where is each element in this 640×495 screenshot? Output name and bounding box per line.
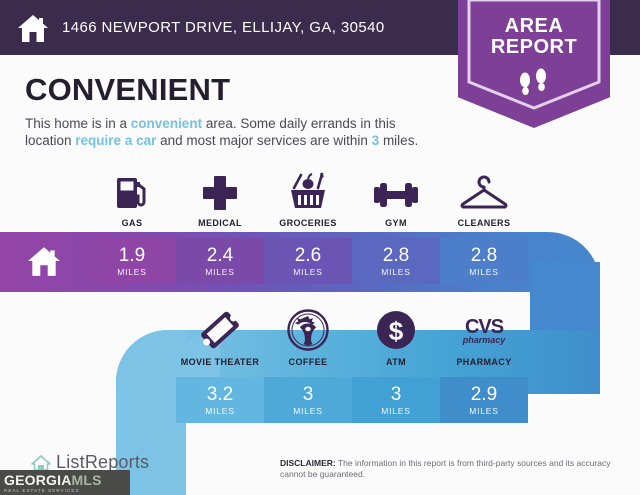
service-gym: GYM (352, 168, 440, 228)
distance-unit: MILES (381, 406, 411, 416)
distance-value: 2.8 (383, 245, 409, 266)
desc-highlight-2: require a car (75, 133, 156, 148)
distance-coffee: 3 MILES (264, 377, 352, 423)
service-label: ATM (386, 357, 406, 367)
distance-value: 2.4 (207, 245, 233, 266)
service-gas: GAS (88, 168, 176, 228)
distance-value: 2.8 (471, 245, 497, 266)
service-cleaners: CLEANERS (440, 168, 528, 228)
desc-part-3: and most major services are within (156, 133, 371, 148)
home-icon (16, 11, 50, 45)
movie-ticket-icon (198, 307, 242, 351)
distance-pharmacy: 2.9 MILES (440, 377, 528, 423)
gas-pump-icon (112, 168, 152, 212)
disclaimer: DISCLAIMER: The information in this repo… (280, 458, 620, 480)
service-label: CLEANERS (458, 218, 511, 228)
mls-primary: GEORGIA (4, 472, 72, 488)
ribbon-title: AREA REPORT (458, 16, 610, 58)
ribbon-line-2: REPORT (458, 37, 610, 58)
svg-text:$: $ (389, 316, 404, 346)
distance-unit: MILES (205, 267, 235, 277)
distance-unit: MILES (205, 406, 235, 416)
distance-unit: MILES (469, 267, 499, 277)
distance-gym: 2.8 MILES (352, 238, 440, 284)
hanger-icon (459, 168, 509, 212)
disclaimer-label: DISCLAIMER: (280, 458, 336, 468)
service-label: GYM (385, 218, 407, 228)
distance-unit: MILES (469, 406, 499, 416)
distance-groceries: 2.6 MILES (264, 238, 352, 284)
distance-unit: MILES (293, 267, 323, 277)
mls-tagline: REAL ESTATE SERVICES (4, 488, 130, 493)
service-atm: $ ATM (352, 307, 440, 367)
service-medical: MEDICAL (176, 168, 264, 228)
distance-value: 2.6 (295, 245, 321, 266)
distance-medical: 2.4 MILES (176, 238, 264, 284)
distance-value: 1.9 (119, 245, 145, 266)
grocery-basket-icon (286, 168, 330, 212)
services-row-2: MOVIE THEATER COFFEE $ ATM (176, 307, 528, 367)
starbucks-icon (287, 307, 329, 351)
service-coffee: COFFEE (264, 307, 352, 367)
service-label: COFFEE (289, 357, 328, 367)
distance-movie-theater: 3.2 MILES (176, 377, 264, 423)
service-label: MOVIE THEATER (181, 357, 260, 367)
brand-bold: Reports (85, 452, 149, 472)
desc-part-4: miles. (379, 133, 418, 148)
distance-value: 3.2 (207, 384, 233, 405)
distance-atm: 3 MILES (352, 377, 440, 423)
dollar-circle-icon: $ (375, 307, 417, 351)
distance-unit: MILES (293, 406, 323, 416)
distance-value: 3 (303, 384, 314, 405)
georgia-mls-logo: GEORGIAMLS REAL ESTATE SERVICES (0, 470, 130, 495)
dumbbell-icon (372, 168, 420, 212)
distance-value: 2.9 (471, 384, 497, 405)
description-text: This home is in a convenient area. Some … (25, 115, 445, 149)
home-marker-icon (22, 243, 66, 279)
distance-gas: 1.9 MILES (88, 238, 176, 284)
property-address: 1466 NEWPORT DRIVE, ELLIJAY, GA, 30540 (62, 19, 385, 36)
distance-unit: MILES (381, 267, 411, 277)
service-pharmacy: CVS pharmacy PHARMACY (440, 307, 528, 367)
distances-row-1: 1.9 MILES 2.4 MILES 2.6 MILES 2.8 MILES … (88, 238, 528, 284)
distances-row-2: 3.2 MILES 3 MILES 3 MILES 2.9 MILES (176, 377, 528, 423)
service-label: MEDICAL (198, 218, 242, 228)
service-label: GROCERIES (279, 218, 337, 228)
desc-part-1: This home is in a (25, 116, 131, 131)
mls-secondary: MLS (72, 472, 102, 488)
service-groceries: GROCERIES (264, 168, 352, 228)
brand-light: List (56, 452, 85, 472)
distance-unit: MILES (117, 267, 147, 277)
desc-highlight-1: convenient (131, 116, 202, 131)
footprints-icon (458, 68, 610, 103)
ribbon-line-1: AREA (458, 16, 610, 37)
cvs-pharmacy-icon: CVS pharmacy (454, 307, 514, 351)
medical-cross-icon (201, 168, 239, 212)
page-title: CONVENIENT (25, 72, 230, 108)
service-label: GAS (122, 218, 143, 228)
distance-cleaners: 2.8 MILES (440, 238, 528, 284)
service-label: PHARMACY (456, 357, 511, 367)
services-row-1: GAS MEDICAL (88, 168, 528, 228)
svg-text:pharmacy: pharmacy (462, 335, 507, 345)
service-movie-theater: MOVIE THEATER (176, 307, 264, 367)
area-report-infographic: 1466 NEWPORT DRIVE, ELLIJAY, GA, 30540 A… (0, 0, 640, 495)
distance-value: 3 (391, 384, 402, 405)
mls-wordmark: GEORGIAMLS (4, 473, 130, 487)
